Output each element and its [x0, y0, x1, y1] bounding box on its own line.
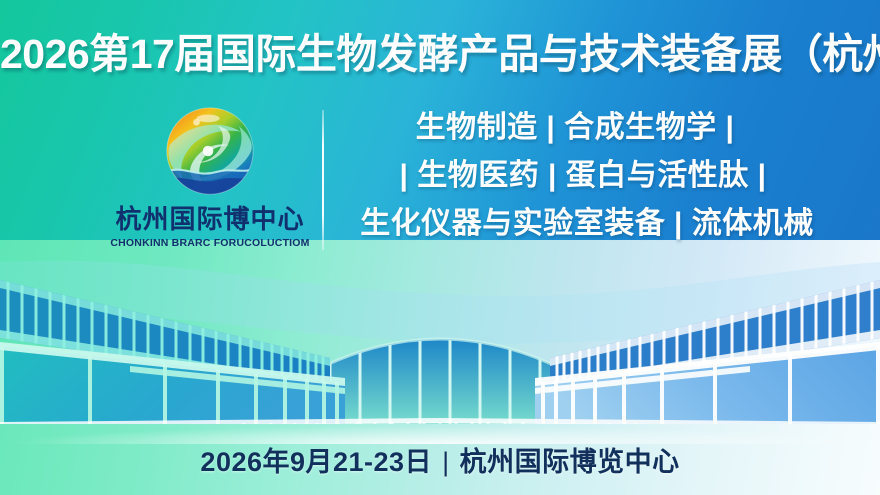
topic-line-3: 生化仪器与实验室装备 | 流体机械: [348, 200, 826, 248]
event-banner: 2026第17届国际生物发酵产品与技术装备展（杭州）: [0, 0, 880, 495]
topic-line-2: | 生物医药 | 蛋白与活性肽 |: [348, 152, 826, 200]
vertical-divider: [322, 110, 324, 250]
venue-name-cn: 杭州国际博中心: [104, 205, 316, 234]
topic-line-1: 生物制造 | 合成生物学 |: [348, 104, 826, 152]
hangzhou-expo-swirl-logo-icon: [162, 103, 258, 199]
topic-list: 生物制造 | 合成生物学 | | 生物医药 | 蛋白与活性肽 | 生化仪器与实验…: [348, 104, 826, 248]
page-title: 2026第17届国际生物发酵产品与技术装备展（杭州）: [0, 20, 880, 80]
footer-separator: |: [432, 447, 460, 477]
footer-info: 2026年9月21-23日|杭州国际博览中心: [0, 440, 880, 479]
event-venue: 杭州国际博览中心: [460, 447, 680, 477]
event-date: 2026年9月21-23日: [200, 447, 432, 477]
venue-name-en: CHONKINN BRARC FORUCOLUCTIOM: [104, 237, 316, 249]
venue-logo-block: 杭州国际博中心 CHONKINN BRARC FORUCOLUCTIOM: [104, 103, 316, 249]
